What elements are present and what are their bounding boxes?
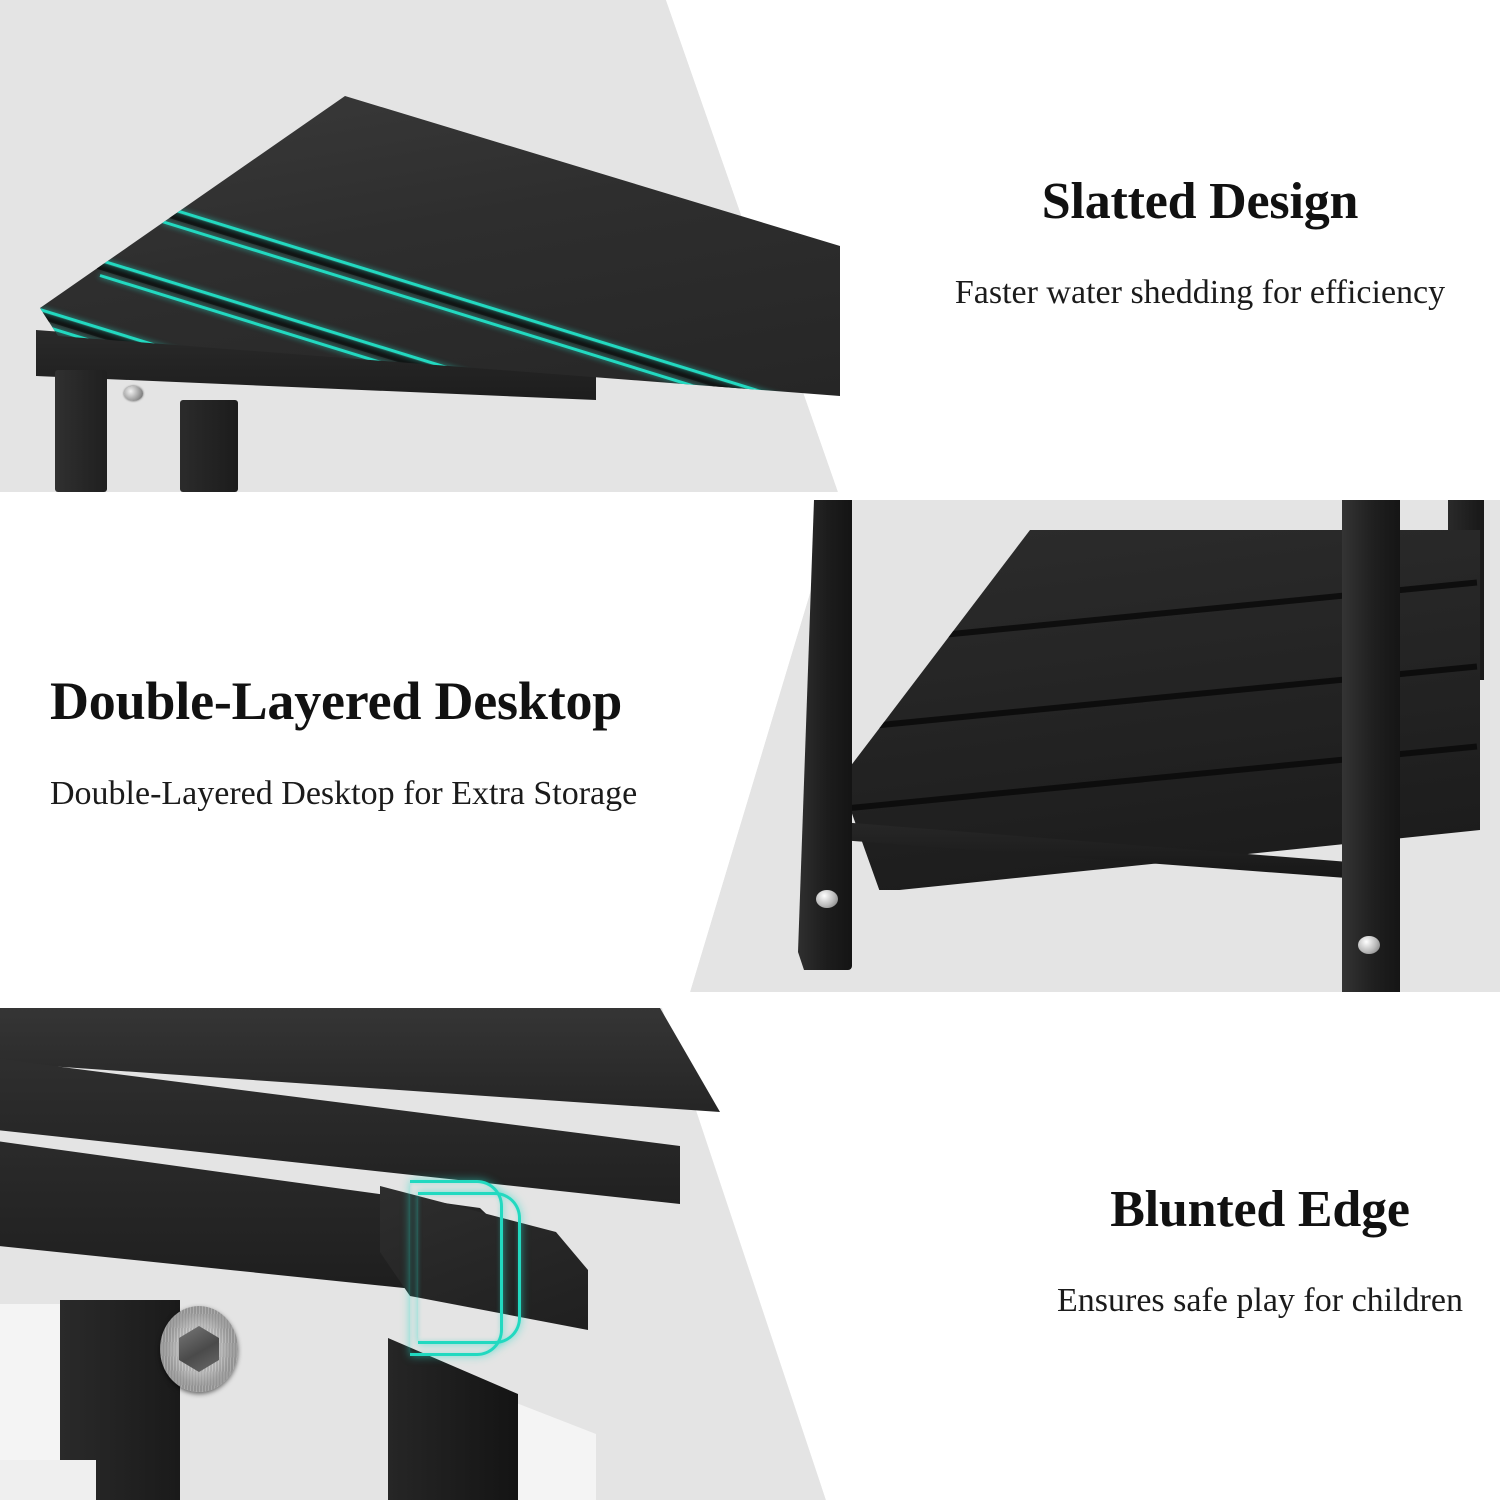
feature-image-slatted-design xyxy=(0,0,840,492)
feature-text-double-layered-desktop: Double-Layered Desktop Double-Layered De… xyxy=(50,500,650,992)
table-leg-right xyxy=(1342,500,1400,992)
hex-bolt-icon xyxy=(160,1306,238,1392)
table-leg-right xyxy=(180,400,238,492)
feature-text-blunted-edge: Blunted Edge Ensures safe play for child… xyxy=(980,1008,1500,1500)
photo-backdrop-gap xyxy=(0,1460,96,1500)
blunted-edge-highlight-bracket xyxy=(418,1192,521,1344)
feature-heading: Double-Layered Desktop xyxy=(50,671,650,733)
feature-image-double-layered-desktop xyxy=(690,500,1500,992)
screw-icon xyxy=(1358,936,1380,954)
feature-heading: Slatted Design xyxy=(900,172,1500,231)
screw-icon xyxy=(816,890,838,908)
feature-heading: Blunted Edge xyxy=(1000,1180,1500,1239)
feature-text-slatted-design: Slatted Design Faster water shedding for… xyxy=(880,0,1500,492)
feature-body: Faster water shedding for efficiency xyxy=(900,265,1500,320)
table-leg-left xyxy=(55,370,107,492)
infographic-board: Slatted Design Faster water shedding for… xyxy=(0,0,1500,1500)
feature-image-blunted-edge xyxy=(0,1008,830,1500)
screw-icon xyxy=(124,386,143,401)
feature-body: Ensures safe play for children xyxy=(1000,1273,1500,1328)
feature-body: Double-Layered Desktop for Extra Storage xyxy=(50,766,650,821)
